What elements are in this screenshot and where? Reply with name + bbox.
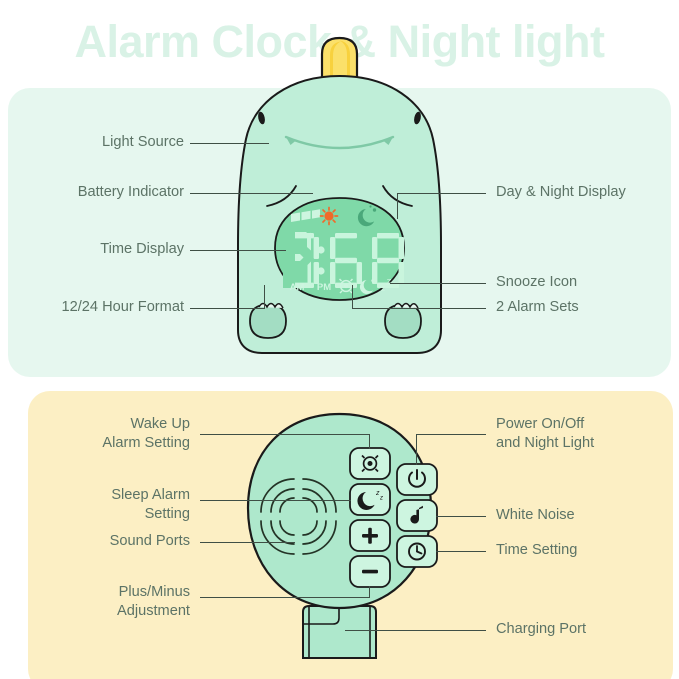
label-white-noise: White Noise xyxy=(496,506,676,525)
label-snooze-icon: Snooze Icon xyxy=(496,273,666,292)
leader-alarm-sets-riser xyxy=(352,285,353,309)
leader-sleep-alarm xyxy=(200,500,351,501)
label-light-source: Light Source xyxy=(40,133,184,152)
top-panel xyxy=(8,88,671,377)
leader-plus-minus-riser xyxy=(369,586,370,598)
leader-hour-format-riser xyxy=(264,285,265,309)
label-alarm-sets: 2 Alarm Sets xyxy=(496,298,666,317)
leader-day-night-display xyxy=(398,193,486,194)
label-sleep-alarm: Sleep Alarm Setting xyxy=(30,486,190,524)
leader-light-source xyxy=(190,143,269,144)
label-time-setting: Time Setting xyxy=(496,541,676,560)
leader-wake-up-riser xyxy=(369,434,370,449)
label-charging-port: Charging Port xyxy=(496,620,676,639)
leader-battery-indicator xyxy=(190,193,313,194)
leader-power-night-light xyxy=(417,434,486,435)
leader-alarm-sets xyxy=(352,308,486,309)
leader-charging-port xyxy=(345,630,486,631)
label-wake-up-alarm: Wake Up Alarm Setting xyxy=(30,415,190,453)
leader-sound-ports xyxy=(200,542,295,543)
label-power-night-light: Power On/Off and Night Light xyxy=(496,415,676,453)
label-time-display: Time Display xyxy=(40,240,184,259)
infographic-root: Alarm Clock & Night light xyxy=(0,0,679,679)
label-battery-indicator: Battery Indicator xyxy=(20,183,184,202)
page-title: Alarm Clock & Night light xyxy=(0,16,679,68)
leader-day-night-riser xyxy=(397,193,398,219)
leader-plus-minus xyxy=(200,597,370,598)
label-plus-minus: Plus/Minus Adjustment xyxy=(30,583,190,621)
leader-snooze-icon xyxy=(390,283,486,284)
leader-time-display xyxy=(190,250,286,251)
label-day-night-display: Day & Night Display xyxy=(496,183,676,202)
leader-white-noise xyxy=(436,516,486,517)
leader-power-riser xyxy=(416,434,417,465)
leader-time-setting xyxy=(436,551,486,552)
label-sound-ports: Sound Ports xyxy=(30,532,190,551)
leader-wake-up-alarm xyxy=(200,434,370,435)
leader-hour-format xyxy=(190,308,265,309)
label-hour-format: 12/24 Hour Format xyxy=(14,298,184,317)
